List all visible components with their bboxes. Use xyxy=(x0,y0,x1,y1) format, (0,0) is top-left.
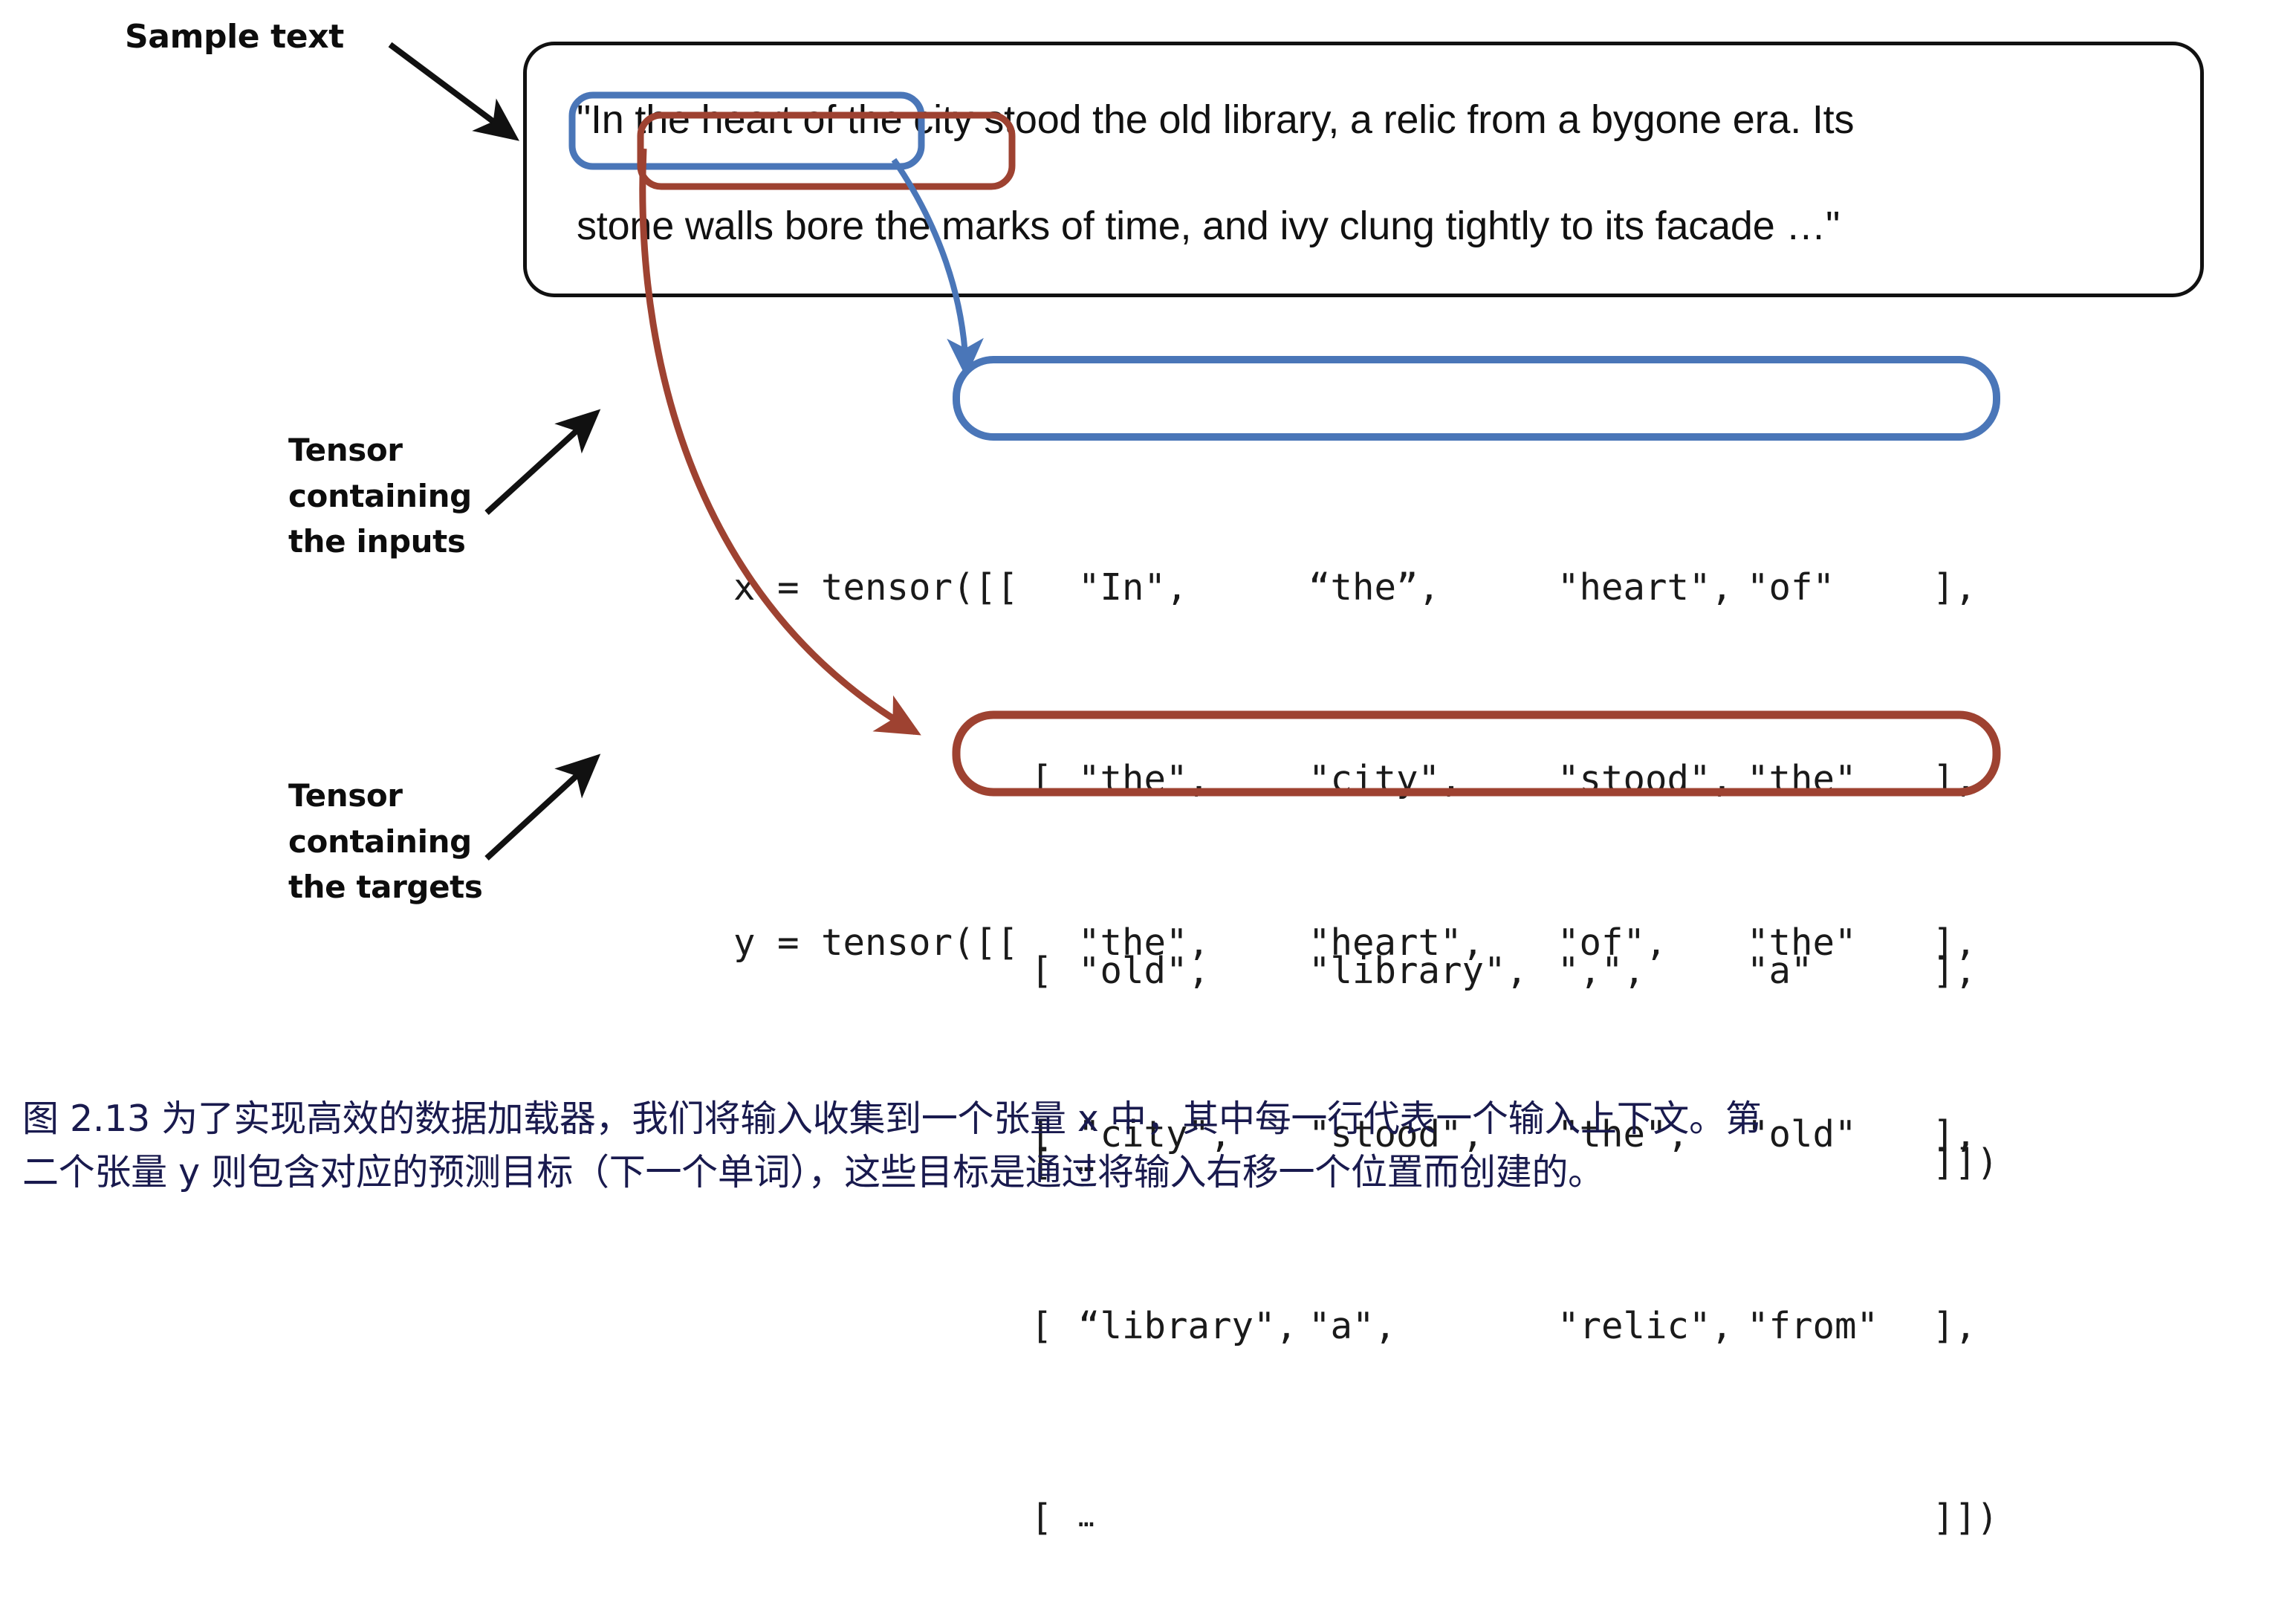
tensor-y-row-3: […]]) xyxy=(602,1422,2022,1486)
row-open-bracket: [ xyxy=(1031,1486,1078,1550)
token: "the", xyxy=(1078,911,1308,975)
tensor-x-row-0: x = tensor([["In",“the”,"heart","of"], xyxy=(602,492,2022,556)
token: "heart", xyxy=(1557,556,1747,620)
row-close-bracket: ], xyxy=(1933,556,2022,620)
sample-text-line-2: stone walls bore the marks of time, and … xyxy=(577,203,1840,249)
token: "the" xyxy=(1747,911,1933,975)
tensor-x-prefix: x = tensor([[ xyxy=(733,556,1031,620)
tensor-targets-label: Tensor containing the targets xyxy=(288,773,482,910)
row-close-bracket: ]]) xyxy=(1933,1486,2022,1550)
caption-line-2: 二个张量 y 则包含对应的预测目标（下一个单词），这些目标是通过将输入右移一个位… xyxy=(22,1146,2281,1199)
token: "a", xyxy=(1308,1294,1557,1358)
token: "of", xyxy=(1557,911,1747,975)
row-open-bracket: [ xyxy=(1031,1294,1078,1358)
token: “library", xyxy=(1078,1294,1308,1358)
sample-text-pointer-arrow xyxy=(390,45,513,136)
tensor-targets-pointer-arrow xyxy=(487,759,594,858)
token: "heart", xyxy=(1308,911,1557,975)
token: "from" xyxy=(1747,1294,1933,1358)
tensor-y-prefix: y = tensor([[ xyxy=(733,911,1031,975)
row-close-bracket: ], xyxy=(1933,911,2022,975)
sample-text-label: Sample text xyxy=(125,13,344,62)
token: “the”, xyxy=(1308,556,1557,620)
tensor-y-row-0: y = tensor([["the","heart","of","the"], xyxy=(602,847,2022,911)
tensor-y-row-2: [“library","a","relic","from"], xyxy=(602,1231,2022,1294)
token: "of" xyxy=(1747,556,1933,620)
token: "In", xyxy=(1078,556,1308,620)
token-ellipsis: … xyxy=(1078,1486,1308,1550)
token: "relic", xyxy=(1557,1294,1747,1358)
figure-caption: 图 2.13 为了实现高效的数据加载器，我们将输入收集到一个张量 x 中，其中每… xyxy=(22,1092,2281,1199)
figure-canvas: "In the heart of the city stood the old … xyxy=(0,0,2296,1239)
caption-line-1: 图 2.13 为了实现高效的数据加载器，我们将输入收集到一个张量 x 中，其中每… xyxy=(22,1092,2281,1146)
sample-text-box xyxy=(523,42,2204,297)
tensor-inputs-pointer-arrow xyxy=(487,415,594,513)
tensor-inputs-label: Tensor containing the inputs xyxy=(288,427,472,565)
row-close-bracket: ], xyxy=(1933,1294,2022,1358)
sample-text-line-1: "In the heart of the city stood the old … xyxy=(577,97,1854,143)
